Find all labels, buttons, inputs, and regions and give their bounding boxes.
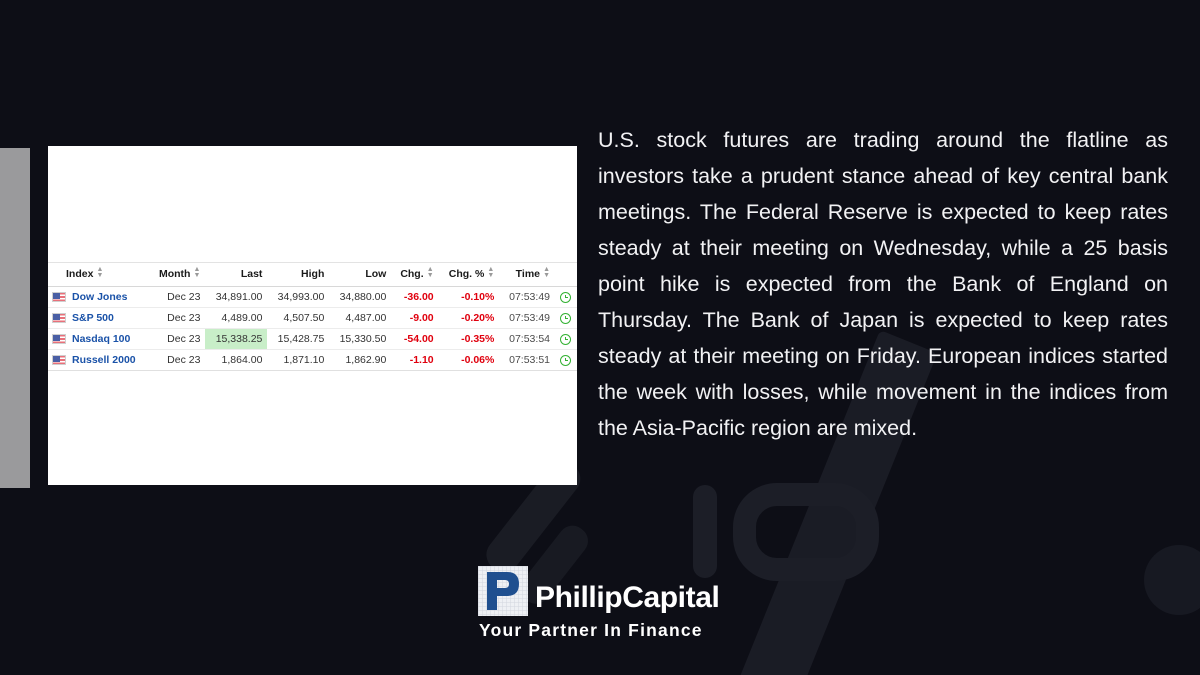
cell-month: Dec 23	[149, 329, 205, 350]
table-row[interactable]: S&P 500 Dec 23 4,489.00 4,507.50 4,487.0…	[48, 308, 577, 329]
column-header-time[interactable]: Time▲▼	[499, 263, 555, 287]
cell-last: 1,864.00	[205, 350, 267, 371]
cell-change-percent: -0.35%	[439, 329, 500, 350]
column-header-last-label: Last	[241, 268, 263, 280]
cell-index[interactable]: Dow Jones	[48, 287, 149, 308]
table-row[interactable]: Russell 2000 Dec 23 1,864.00 1,871.10 1,…	[48, 350, 577, 371]
index-name-link[interactable]: Nasdaq 100	[72, 333, 130, 345]
logo-top-row: PhillipCapital	[478, 566, 719, 616]
cell-status	[555, 308, 577, 329]
cell-index[interactable]: Nasdaq 100	[48, 329, 149, 350]
cell-high: 34,993.00	[267, 287, 329, 308]
cell-change: -9.00	[391, 308, 438, 329]
cell-last: 15,338.25	[205, 329, 267, 350]
article-body: U.S. stock futures are trading around th…	[598, 122, 1168, 446]
cell-time: 07:53:49	[499, 308, 555, 329]
clock-icon	[560, 334, 571, 345]
table-row[interactable]: Dow Jones Dec 23 34,891.00 34,993.00 34,…	[48, 287, 577, 308]
slide-canvas: Index▲▼ Month▲▼ Last High Low	[0, 0, 1200, 675]
index-name-link[interactable]: Dow Jones	[72, 291, 127, 303]
cell-change: -1.10	[391, 350, 438, 371]
left-grey-tab	[0, 148, 30, 488]
column-header-low[interactable]: Low	[329, 263, 391, 287]
quotes-panel: Index▲▼ Month▲▼ Last High Low	[48, 146, 577, 485]
column-header-status	[555, 263, 577, 287]
column-header-chg[interactable]: Chg.▲▼	[391, 263, 438, 287]
watermark-rounded-bar	[693, 485, 717, 578]
column-header-chg-pct-label: Chg. %	[449, 268, 485, 280]
cell-last: 34,891.00	[205, 287, 267, 308]
sort-icon[interactable]: ▲▼	[487, 267, 494, 279]
cell-change-percent: -0.10%	[439, 287, 500, 308]
column-header-last[interactable]: Last	[205, 263, 267, 287]
us-flag-icon	[52, 313, 66, 323]
clock-icon	[560, 292, 571, 303]
clock-icon	[560, 313, 571, 324]
column-header-chg-pct[interactable]: Chg. %▲▼	[439, 263, 500, 287]
cell-time: 07:53:49	[499, 287, 555, 308]
column-header-high-label: High	[301, 268, 324, 280]
cell-high: 4,507.50	[267, 308, 329, 329]
cell-change: -36.00	[391, 287, 438, 308]
sort-icon[interactable]: ▲▼	[427, 267, 434, 279]
column-header-month-label: Month	[159, 268, 191, 280]
sort-icon[interactable]: ▲▼	[193, 267, 200, 279]
cell-low: 4,487.00	[329, 308, 391, 329]
cell-low: 1,862.90	[329, 350, 391, 371]
index-name-link[interactable]: Russell 2000	[72, 354, 136, 366]
cell-low: 34,880.00	[329, 287, 391, 308]
cell-index[interactable]: Russell 2000	[48, 350, 149, 371]
cell-time: 07:53:51	[499, 350, 555, 371]
logo-p-mark-icon	[478, 566, 528, 616]
cell-status	[555, 287, 577, 308]
column-header-high[interactable]: High	[267, 263, 329, 287]
cell-time: 07:53:54	[499, 329, 555, 350]
phillipcapital-logo: PhillipCapital Your Partner In Finance	[478, 566, 719, 641]
futures-quotes-table: Index▲▼ Month▲▼ Last High Low	[48, 262, 577, 371]
us-flag-icon	[52, 292, 66, 302]
cell-month: Dec 23	[149, 287, 205, 308]
sort-icon[interactable]: ▲▼	[543, 267, 550, 279]
cell-month: Dec 23	[149, 350, 205, 371]
sort-icon[interactable]: ▲▼	[96, 267, 103, 279]
column-header-index[interactable]: Index▲▼	[48, 263, 149, 287]
cell-status	[555, 350, 577, 371]
column-header-month[interactable]: Month▲▼	[149, 263, 205, 287]
logo-tagline: Your Partner In Finance	[479, 620, 703, 641]
cell-high: 1,871.10	[267, 350, 329, 371]
cell-index[interactable]: S&P 500	[48, 308, 149, 329]
cell-change-percent: -0.20%	[439, 308, 500, 329]
cell-status	[555, 329, 577, 350]
table-row[interactable]: Nasdaq 100 Dec 23 15,338.25 15,428.75 15…	[48, 329, 577, 350]
cell-change-percent: -0.06%	[439, 350, 500, 371]
us-flag-icon	[52, 355, 66, 365]
cell-change: -54.00	[391, 329, 438, 350]
logo-wordmark: PhillipCapital	[535, 583, 719, 613]
cell-low: 15,330.50	[329, 329, 391, 350]
clock-icon	[560, 355, 571, 366]
column-header-time-label: Time	[516, 268, 540, 280]
table-header-row: Index▲▼ Month▲▼ Last High Low	[48, 263, 577, 287]
column-header-chg-label: Chg.	[400, 268, 423, 280]
us-flag-icon	[52, 334, 66, 344]
watermark-corner-ring	[1144, 545, 1200, 615]
watermark-rounded-o	[733, 483, 879, 581]
column-header-low-label: Low	[365, 268, 386, 280]
column-header-index-label: Index	[66, 268, 93, 280]
cell-high: 15,428.75	[267, 329, 329, 350]
cell-month: Dec 23	[149, 308, 205, 329]
cell-last: 4,489.00	[205, 308, 267, 329]
index-name-link[interactable]: S&P 500	[72, 312, 114, 324]
